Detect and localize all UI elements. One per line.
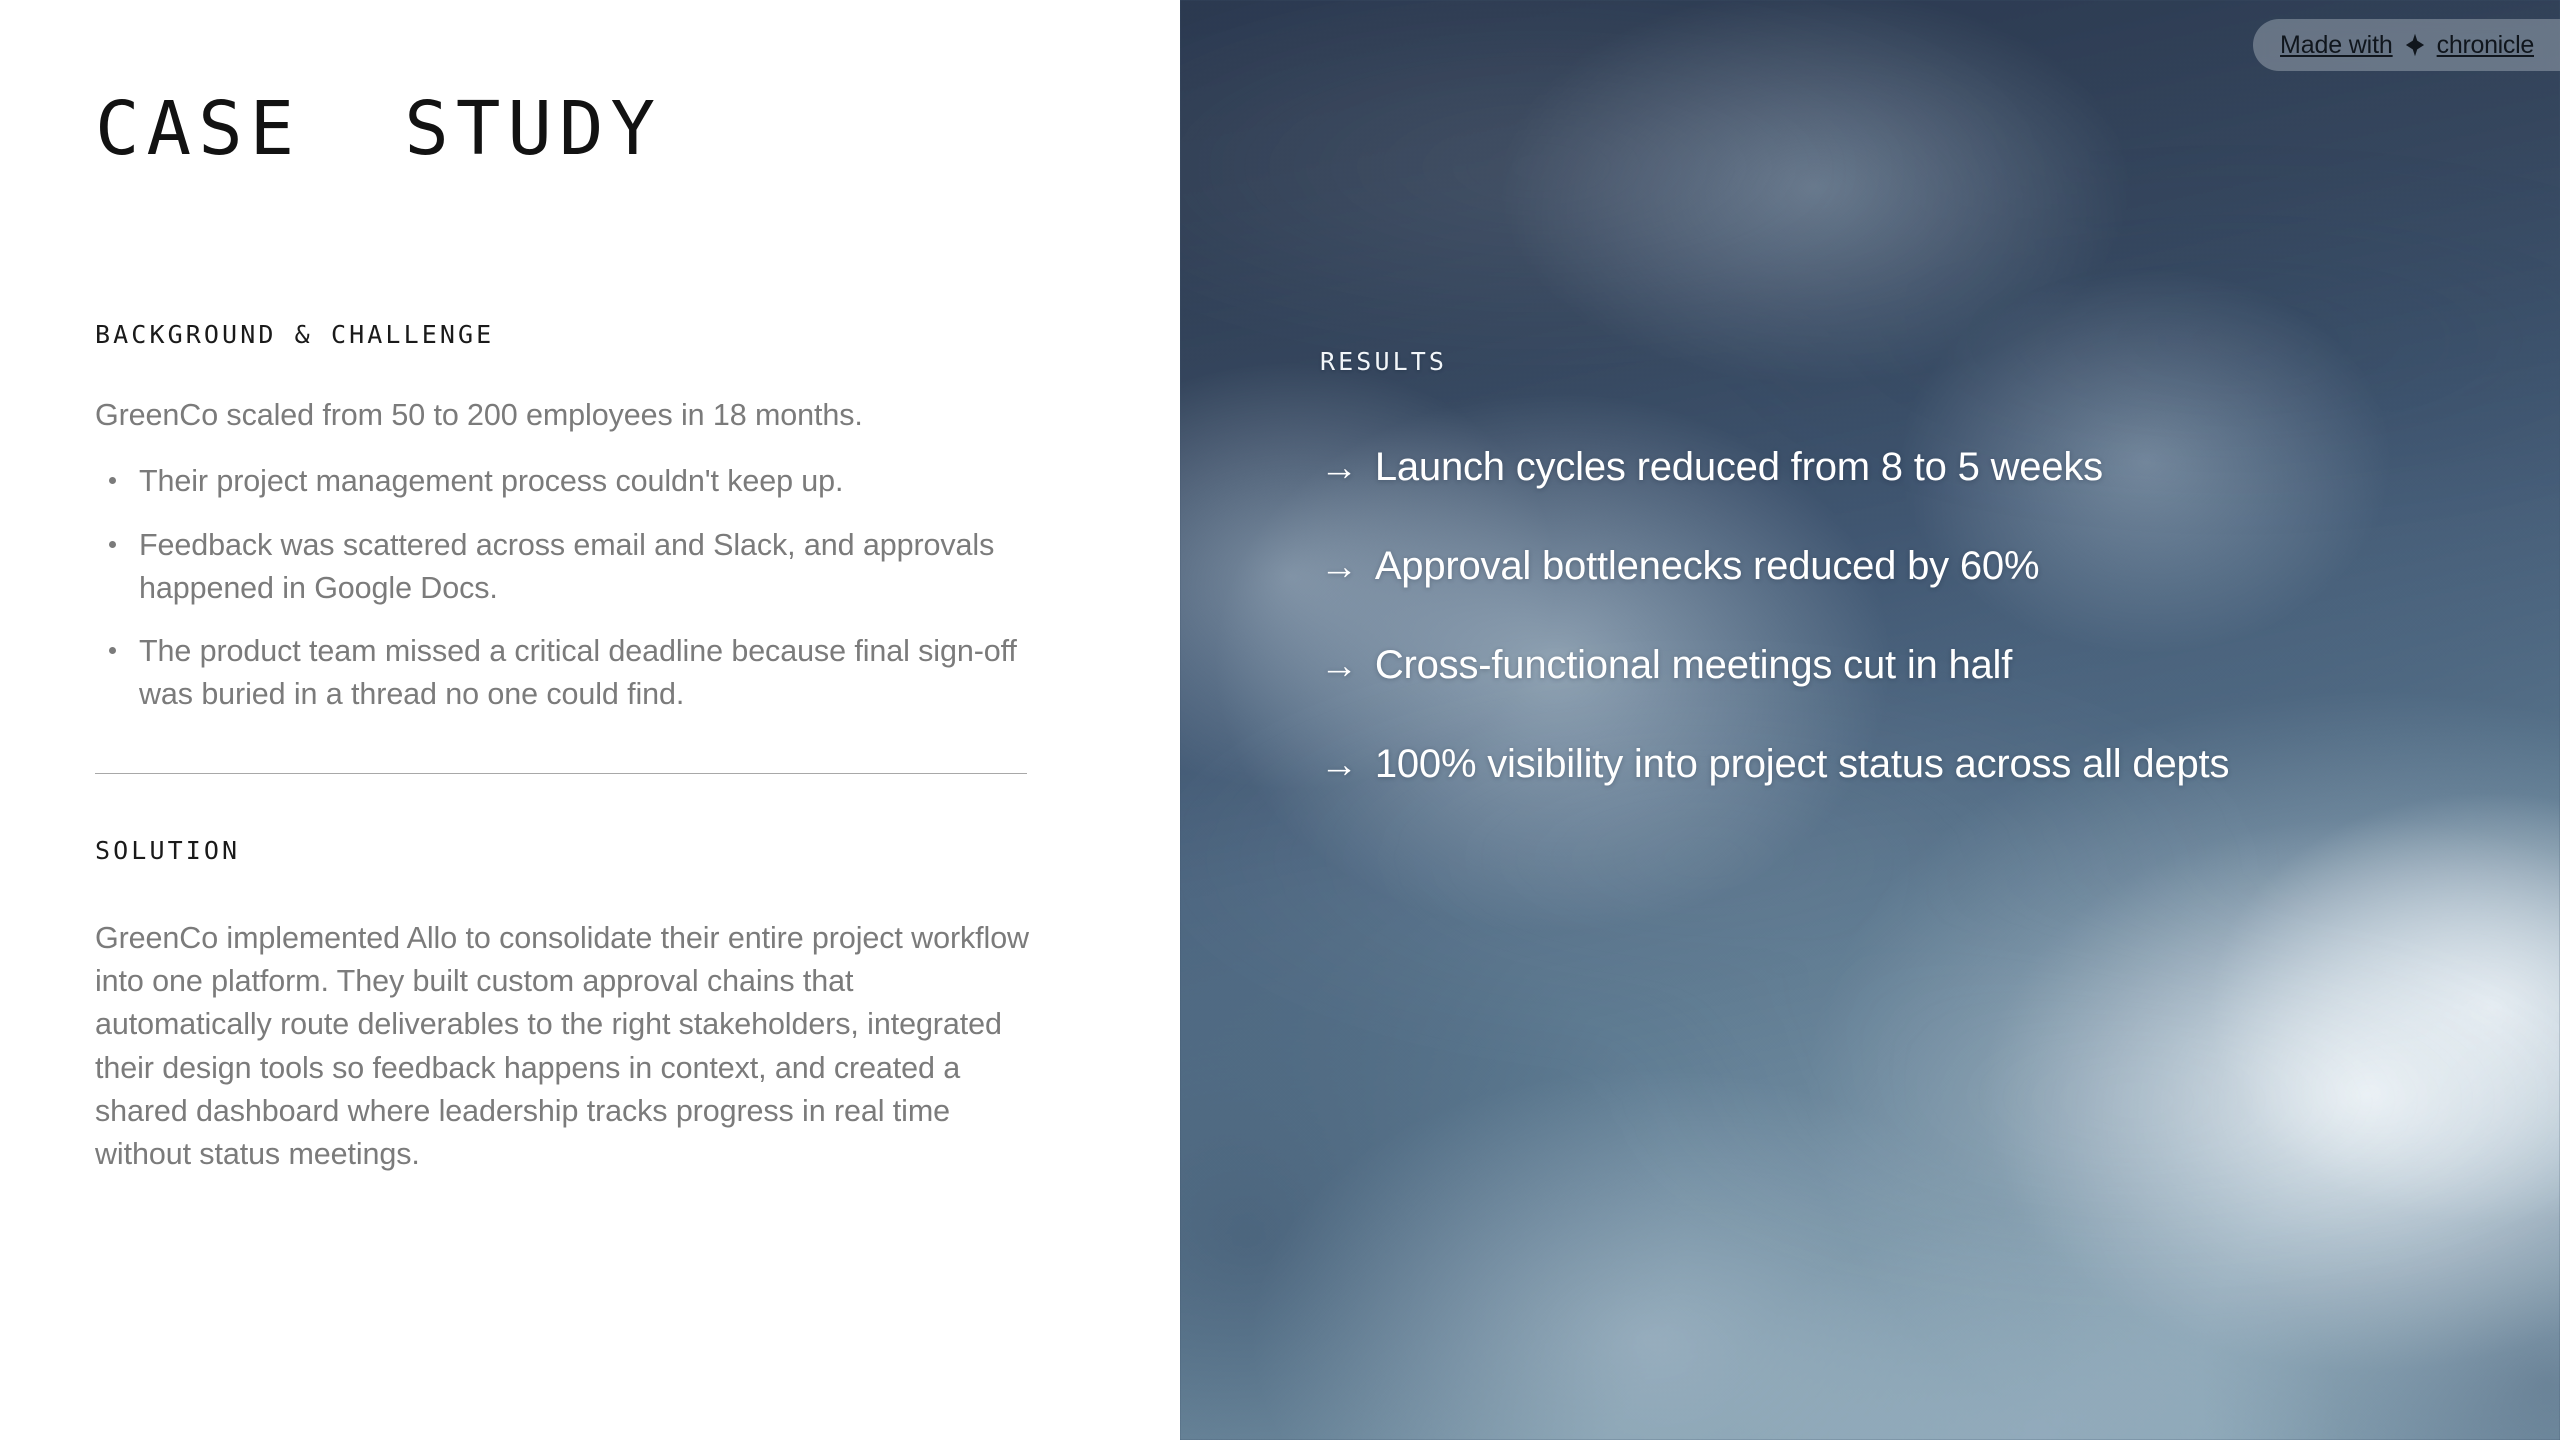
list-item-label: The product team missed a critical deadl… bbox=[139, 634, 1017, 711]
list-item-label: Cross-functional meetings cut in half bbox=[1375, 642, 2012, 688]
list-item: → Launch cycles reduced from 8 to 5 week… bbox=[1320, 444, 2560, 490]
case-study-slide: CASE STUDY BACKGROUND & CHALLENGE GreenC… bbox=[0, 0, 2560, 1440]
solution-section: SOLUTION GreenCo implemented Allo to con… bbox=[95, 836, 1180, 1177]
bullet-dot-icon bbox=[109, 647, 116, 654]
list-item: Feedback was scattered across email and … bbox=[95, 524, 1030, 611]
section-divider bbox=[95, 773, 1027, 774]
arrow-right-icon: → bbox=[1320, 548, 1358, 586]
badge-prefix-label: Made with bbox=[2280, 31, 2393, 60]
arrow-right-icon: → bbox=[1320, 746, 1358, 784]
left-content-pane: CASE STUDY BACKGROUND & CHALLENGE GreenC… bbox=[0, 0, 1180, 1440]
list-item-label: Launch cycles reduced from 8 to 5 weeks bbox=[1375, 444, 2103, 490]
bullet-dot-icon bbox=[109, 541, 116, 548]
list-item: → Approval bottlenecks reduced by 60% bbox=[1320, 543, 2560, 589]
list-item: The product team missed a critical deadl… bbox=[95, 630, 1030, 717]
results-content: RESULTS → Launch cycles reduced from 8 t… bbox=[1180, 347, 2560, 787]
list-item-label: Approval bottlenecks reduced by 60% bbox=[1375, 543, 2040, 589]
list-item-label: Feedback was scattered across email and … bbox=[139, 528, 994, 605]
page-title: CASE STUDY bbox=[95, 92, 1180, 166]
list-item-label: 100% visibility into project status acro… bbox=[1375, 741, 2229, 787]
results-heading: RESULTS bbox=[1320, 347, 2560, 376]
list-item: → Cross-functional meetings cut in half bbox=[1320, 642, 2560, 688]
list-item-label: Their project management process couldn'… bbox=[139, 464, 843, 498]
list-item: → 100% visibility into project status ac… bbox=[1320, 741, 2560, 787]
sparkle-icon bbox=[2402, 32, 2428, 58]
list-item: Their project management process couldn'… bbox=[95, 460, 1030, 503]
background-bullet-list: Their project management process couldn'… bbox=[95, 460, 1180, 716]
results-list: → Launch cycles reduced from 8 to 5 week… bbox=[1320, 444, 2560, 787]
arrow-right-icon: → bbox=[1320, 647, 1358, 685]
made-with-chronicle-badge[interactable]: Made with chronicle bbox=[2253, 19, 2560, 71]
background-challenge-heading: BACKGROUND & CHALLENGE bbox=[95, 320, 1180, 349]
results-panel: RESULTS → Launch cycles reduced from 8 t… bbox=[1180, 0, 2560, 1440]
background-challenge-section: BACKGROUND & CHALLENGE GreenCo scaled fr… bbox=[95, 320, 1180, 717]
solution-heading: SOLUTION bbox=[95, 836, 1180, 865]
arrow-right-icon: → bbox=[1320, 449, 1358, 487]
bullet-dot-icon bbox=[109, 477, 116, 484]
badge-brand-label: chronicle bbox=[2437, 31, 2534, 60]
background-intro-text: GreenCo scaled from 50 to 200 employees … bbox=[95, 394, 1055, 437]
solution-body-text: GreenCo implemented Allo to consolidate … bbox=[95, 917, 1030, 1177]
